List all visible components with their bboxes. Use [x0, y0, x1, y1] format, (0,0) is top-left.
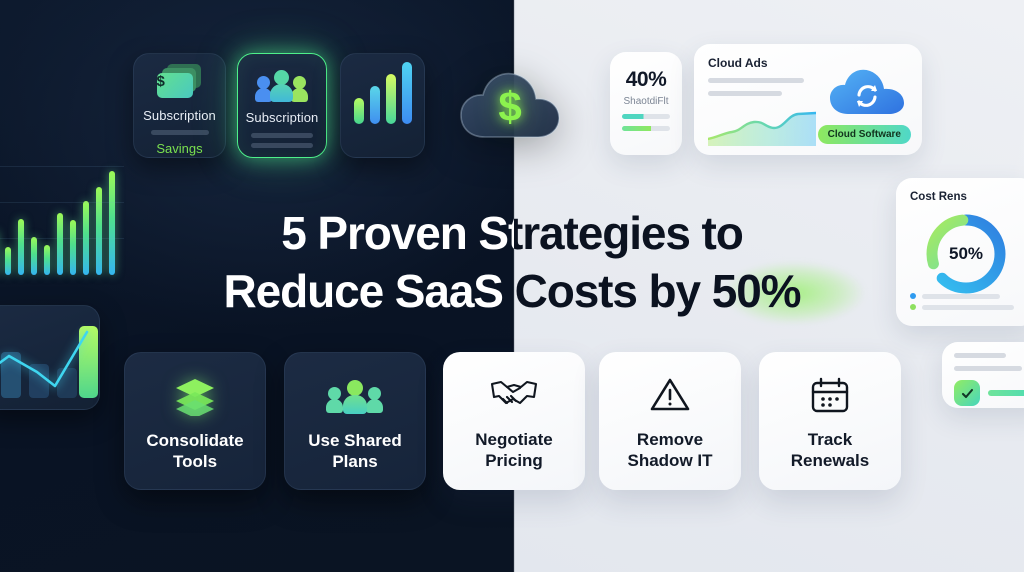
- strategy-label-line2: Renewals: [791, 451, 869, 470]
- people-group-icon: [255, 68, 309, 102]
- cloud-dollar-icon: $: [455, 55, 565, 155]
- page-title: 5 Proven Strategies to 5 Proven Strategi…: [0, 204, 1024, 329]
- stat-value: 40%: [622, 68, 670, 92]
- check-glyph: [960, 386, 975, 401]
- bar-chart-icon: [341, 54, 424, 124]
- money-stack-icon: $: [157, 64, 203, 102]
- strategy-label-line2: Tools: [173, 452, 217, 471]
- top-card-subscription-highlighted[interactable]: Subscription: [237, 53, 327, 158]
- strategy-label-line1: Track: [808, 430, 852, 449]
- warning-triangle-icon: [649, 374, 691, 416]
- layers-icon: [173, 375, 217, 417]
- cloud-sync-icon: [826, 64, 910, 120]
- people-group-icon: [326, 375, 384, 417]
- strategy-label-line1: Use Shared: [308, 431, 402, 450]
- check-icon[interactable]: [954, 380, 980, 406]
- cost-rens-title: Cost Rens: [910, 191, 1022, 203]
- dollar-symbol: $: [455, 83, 565, 131]
- top-card-title: Subscription: [238, 110, 326, 125]
- strategy-card-consolidate-tools[interactable]: Consolidate Tools: [124, 352, 266, 490]
- checklist-card[interactable]: [942, 342, 1024, 408]
- top-card-title: Subscription: [134, 108, 225, 123]
- top-card-bar-chart[interactable]: [340, 53, 425, 158]
- cloud-software-badge: Cloud Software: [818, 125, 911, 144]
- stat-label: ShaotdiFlt: [622, 96, 670, 107]
- handshake-icon: [489, 374, 539, 416]
- top-card-subscription-savings[interactable]: $ Subscription Savings: [133, 53, 226, 158]
- strategy-card-remove-shadow-it[interactable]: Remove Shadow IT: [599, 352, 741, 490]
- calendar-icon: [810, 374, 850, 416]
- strategy-card-use-shared-plans[interactable]: Use Shared Plans: [284, 352, 426, 490]
- cloud-ads-area-chart: [708, 106, 816, 146]
- strategy-label-line2: Plans: [332, 452, 377, 471]
- strategy-label-line1: Negotiate: [475, 430, 552, 449]
- poster-canvas: $ Subscription Savings Subscription: [0, 0, 1024, 572]
- strategy-card-negotiate-pricing[interactable]: Negotiate Pricing: [443, 352, 585, 490]
- stat-card-40: 40% ShaotdiFlt: [610, 52, 682, 155]
- cloud-ads-card[interactable]: Cloud Ads: [694, 44, 922, 155]
- strategy-label-line1: Consolidate: [146, 431, 243, 450]
- top-card-subtitle: Savings: [134, 141, 225, 156]
- strategy-label-line1: Remove: [637, 430, 703, 449]
- strategy-label-line2: Pricing: [485, 451, 543, 470]
- strategy-label-line2: Shadow IT: [628, 451, 713, 470]
- strategy-card-track-renewals[interactable]: Track Renewals: [759, 352, 901, 490]
